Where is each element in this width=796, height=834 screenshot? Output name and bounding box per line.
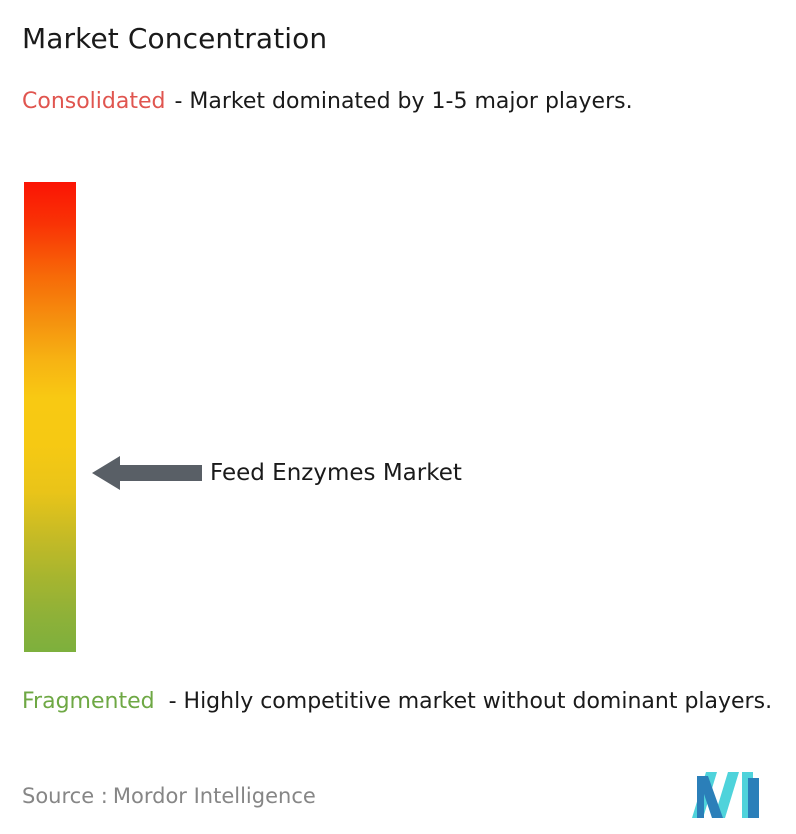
consolidated-caption: Consolidated- Market dominated by 1-5 ma… (22, 86, 774, 118)
fragmented-description: - Highly competitive market without domi… (169, 689, 772, 714)
fragmented-caption: Fragmented- Highly competitive market wi… (22, 686, 782, 718)
left-arrow-icon (92, 452, 202, 494)
source-line: Source :Mordor Intelligence (22, 781, 316, 811)
concentration-gradient-bar (24, 182, 76, 652)
consolidated-description: - Market dominated by 1-5 major players. (174, 89, 632, 114)
page-title: Market Concentration (22, 20, 327, 58)
consolidated-keyword: Consolidated (22, 89, 165, 114)
mordor-intelligence-logo-icon (692, 772, 766, 818)
fragmented-keyword: Fragmented (22, 689, 155, 714)
pointer-label: Feed Enzymes Market (210, 457, 462, 489)
market-concentration-infographic: Market Concentration Consolidated- Marke… (0, 0, 796, 834)
mordor-intelligence-logo (692, 772, 766, 818)
source-value: Mordor Intelligence (113, 784, 316, 808)
market-pointer: Feed Enzymes Market (92, 452, 562, 494)
source-label: Source : (22, 784, 108, 808)
